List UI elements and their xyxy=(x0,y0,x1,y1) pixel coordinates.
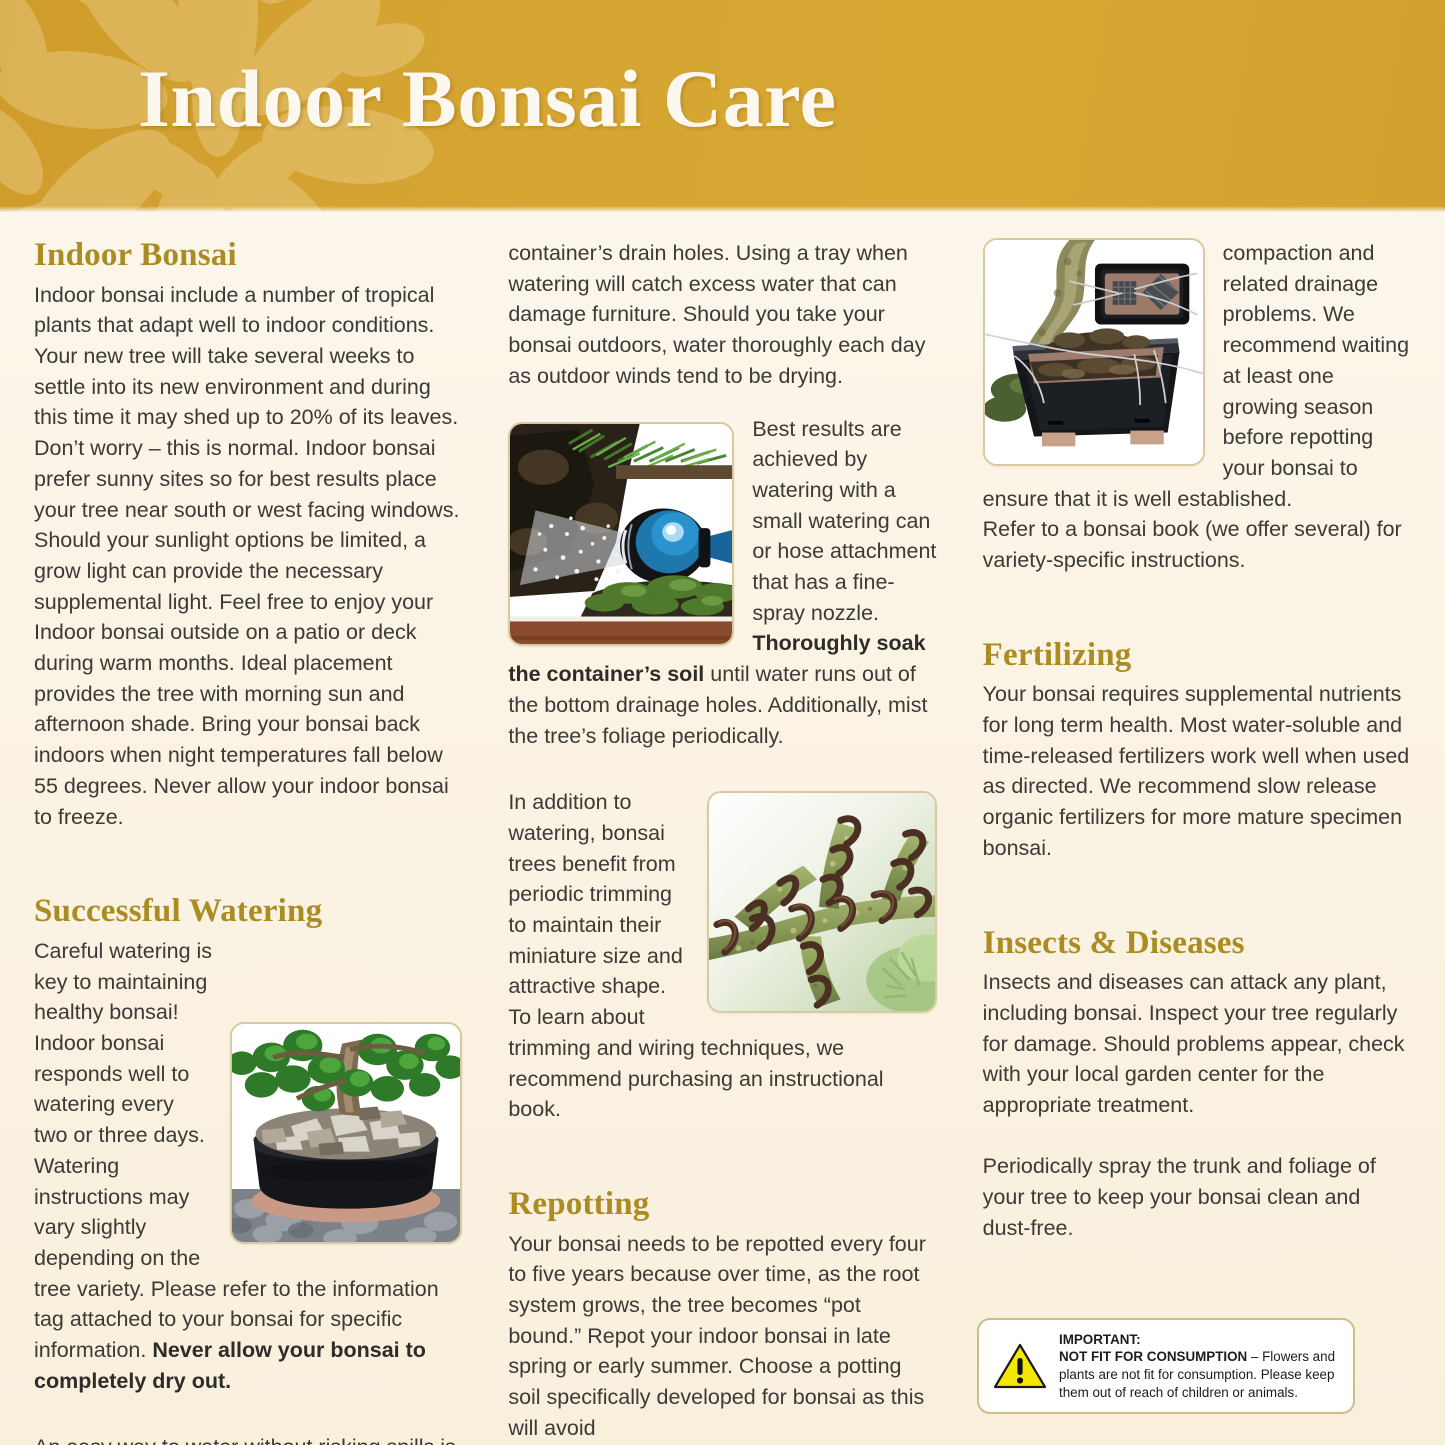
content-area: Indoor Bonsai Indoor bonsai include a nu… xyxy=(0,212,1445,1445)
compaction-block: compaction and related drainage problems… xyxy=(983,238,1411,514)
warning-triangle-icon xyxy=(993,1342,1047,1390)
photo-wired-branch xyxy=(707,791,937,1013)
spacer xyxy=(508,392,936,414)
warning-line-body: NOT FIT FOR CONSUMPTION – Flowers and pl… xyxy=(1059,1348,1341,1401)
column-three: compaction and related drainage problems… xyxy=(983,238,1411,1244)
heading-repotting: Repotting xyxy=(508,1187,936,1222)
watering-block: Careful watering is key to maintaining h… xyxy=(34,936,462,1397)
three-column-layout: Indoor Bonsai Indoor bonsai include a nu… xyxy=(34,238,1411,1445)
warning-line-important: IMPORTANT: xyxy=(1059,1331,1341,1349)
para-best-results-lead: Best results are achieved by watering wi… xyxy=(752,417,936,625)
page-title: Indoor Bonsai Care xyxy=(138,52,837,146)
spacer xyxy=(34,1396,462,1432)
spacer xyxy=(508,1125,936,1187)
para-fertilizing: Your bonsai requires supplemental nutrie… xyxy=(983,679,1411,863)
column-two: container’s drain holes. Using a tray wh… xyxy=(508,238,936,1444)
para-indoor-bonsai: Indoor bonsai include a number of tropic… xyxy=(34,280,462,833)
para-repotting: Your bonsai needs to be repotted every f… xyxy=(508,1229,936,1444)
warning-text: IMPORTANT: NOT FIT FOR CONSUMPTION – Flo… xyxy=(1059,1331,1341,1401)
photo-hose-nozzle-watering xyxy=(508,422,734,646)
trimming-block: In addition to watering, bonsai trees be… xyxy=(508,787,936,1125)
best-results-block: Best results are achieved by watering wi… xyxy=(508,414,936,752)
spacer xyxy=(983,864,1411,926)
heading-fertilizing: Fertilizing xyxy=(983,638,1411,673)
spacer xyxy=(508,751,936,787)
para-insects-a: Insects and diseases can attack any plan… xyxy=(983,967,1411,1121)
para-drain-holes: container’s drain holes. Using a tray wh… xyxy=(508,238,936,392)
important-warning-box: IMPORTANT: NOT FIT FOR CONSUMPTION – Flo… xyxy=(977,1318,1355,1414)
spacer xyxy=(34,832,462,894)
heading-insects-diseases: Insects & Diseases xyxy=(983,926,1411,961)
photo-jade-bonsai xyxy=(230,1022,462,1244)
warning-strong-phrase: NOT FIT FOR CONSUMPTION xyxy=(1059,1349,1247,1364)
para-insects-b: Periodically spray the trunk and foliage… xyxy=(983,1151,1411,1243)
photo-bonsai-pot-drainage-mesh xyxy=(983,238,1205,466)
para-watering-tray: An easy way to water without risking spi… xyxy=(34,1432,462,1445)
para-refer-book: Refer to a bonsai book (we offer several… xyxy=(983,514,1411,575)
heading-indoor-bonsai: Indoor Bonsai xyxy=(34,238,462,273)
heading-successful-watering: Successful Watering xyxy=(34,894,462,929)
care-guide-page: Indoor Bonsai Care Indoor Bonsai Indoor … xyxy=(0,0,1445,1445)
spacer xyxy=(983,576,1411,638)
page-header: Indoor Bonsai Care xyxy=(0,0,1445,212)
column-one: Indoor Bonsai Indoor bonsai include a nu… xyxy=(34,238,462,1445)
